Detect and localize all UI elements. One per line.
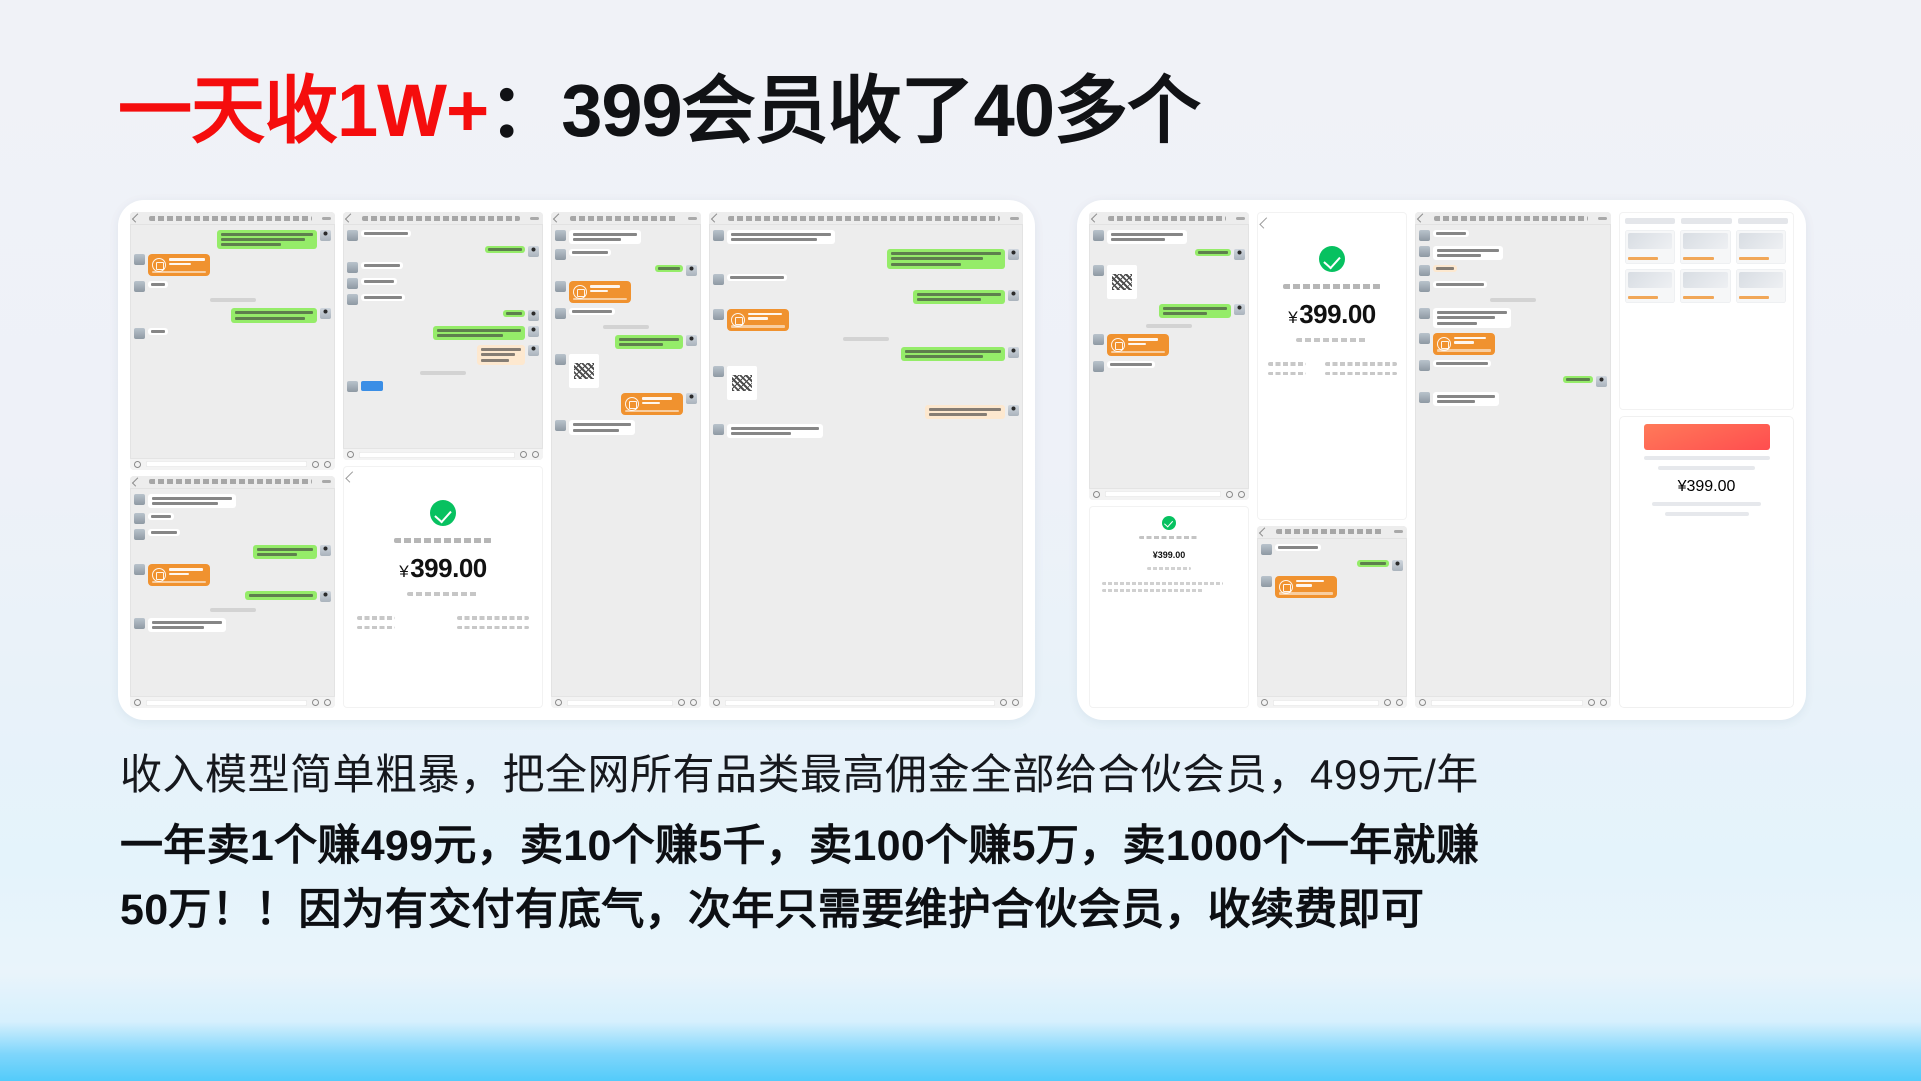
chat-bubble-incoming [1433, 230, 1469, 237]
chat-title-redacted [149, 216, 312, 221]
chat-timestamp [843, 337, 889, 341]
chat-body [343, 225, 543, 397]
chat-row [1261, 544, 1403, 555]
chat-bubble-outgoing [503, 310, 525, 317]
wechat-transfer-card [1107, 334, 1169, 356]
chat-timestamp [210, 608, 256, 612]
avatar [134, 513, 145, 524]
chat-bubble-incoming [148, 529, 180, 536]
chat-body [709, 225, 1023, 443]
chat-bubble-incoming [361, 230, 411, 237]
success-check-icon [1319, 246, 1345, 272]
avatar [1261, 544, 1272, 555]
chat-navbar [551, 212, 701, 225]
emoji-icon[interactable] [1588, 699, 1595, 706]
emoji-icon[interactable] [1000, 699, 1007, 706]
chat-body [1415, 225, 1611, 411]
payment-subtitle-redacted [407, 592, 479, 596]
plus-icon[interactable] [1012, 699, 1019, 706]
chat-bubble-outgoing [245, 591, 317, 600]
chat-bubble-incoming [727, 274, 787, 281]
emoji-icon[interactable] [312, 461, 319, 468]
avatar [1008, 290, 1019, 301]
product-cell[interactable] [1680, 269, 1730, 303]
payment-caption-redacted [1283, 284, 1381, 289]
amount-value: 399.00 [1158, 550, 1186, 560]
chat-navbar [709, 212, 1023, 225]
avatar [1093, 230, 1104, 241]
avatar [320, 308, 331, 319]
chat-row [134, 254, 331, 276]
chat-timestamp [210, 298, 256, 302]
avatar [1419, 265, 1430, 276]
more-icon [1010, 217, 1019, 220]
chat-input-bar[interactable] [130, 458, 335, 470]
emoji-icon[interactable] [520, 451, 527, 458]
chat-bubble-incoming [1433, 281, 1487, 288]
chat-row [555, 281, 697, 303]
chat-row [1093, 249, 1245, 260]
payment-caption-redacted [1139, 536, 1199, 540]
back-icon[interactable] [1259, 217, 1270, 228]
collage-right: ¥399.00 ¥399.00 [1089, 212, 1794, 708]
payment-success-screenshot: ¥399.00 [343, 466, 543, 708]
product-cell[interactable] [1625, 269, 1675, 303]
chat-row [1419, 376, 1607, 387]
success-check-icon [430, 500, 456, 526]
chat-bubble-incoming [1433, 360, 1491, 367]
chat-timestamp [1490, 298, 1536, 302]
chat-bubble-outgoing [913, 290, 1005, 304]
more-icon [1394, 530, 1403, 533]
voice-icon[interactable] [1261, 699, 1268, 706]
wechat-chat-screenshot [130, 476, 335, 708]
chat-bubble-incoming [569, 230, 641, 244]
chat-row [713, 366, 1019, 400]
avatar [320, 545, 331, 556]
avatar [1419, 246, 1430, 257]
payment-amount-small: ¥399.00 [1153, 546, 1186, 561]
chat-body [130, 225, 335, 344]
product-grid-screenshot [1619, 212, 1794, 410]
wechat-chat-screenshot [1089, 212, 1249, 500]
chat-row [555, 230, 697, 244]
chat-body [130, 489, 335, 638]
chat-input-bar[interactable] [551, 696, 701, 708]
chat-row [347, 310, 539, 321]
chat-link-bubble [361, 381, 383, 391]
more-icon [1236, 217, 1245, 220]
chat-row [347, 246, 539, 257]
avatar [1234, 249, 1245, 260]
wechat-chat-screenshot [1257, 526, 1407, 708]
product-cell[interactable] [1736, 230, 1786, 264]
chat-body [551, 225, 701, 440]
chat-bubble-incoming [148, 281, 168, 288]
chat-bubble-incoming [148, 494, 236, 508]
avatar [134, 529, 145, 540]
chat-bubble-outgoing [485, 246, 525, 253]
avatar [1008, 249, 1019, 260]
product-cell[interactable] [1680, 230, 1730, 264]
mock-line [1665, 512, 1749, 516]
meta-row [357, 626, 529, 630]
chat-row [1419, 333, 1607, 355]
chat-bubble-incoming [569, 420, 635, 434]
chat-image-bubble [569, 354, 599, 388]
message-input[interactable] [1431, 700, 1583, 706]
avatar [347, 278, 358, 289]
avatar [1008, 347, 1019, 358]
chat-bubble-outgoing [1563, 376, 1593, 383]
chat-row [555, 308, 697, 319]
chat-bubble-incoming [1275, 544, 1321, 551]
avatar [555, 230, 566, 241]
chat-row [1261, 560, 1403, 571]
chat-bubble-incoming [1107, 230, 1187, 244]
emoji-icon[interactable] [312, 699, 319, 706]
avatar [1419, 333, 1430, 344]
chat-title-redacted [149, 479, 312, 484]
chat-row [1261, 576, 1403, 598]
avatar [1419, 308, 1430, 319]
message-input[interactable] [567, 700, 673, 706]
collage-left: ¥399.00 [130, 212, 1023, 708]
chat-timestamp [420, 371, 466, 375]
avatar [320, 591, 331, 602]
chat-row [134, 494, 331, 508]
chat-bubble-incoming [1433, 265, 1457, 272]
chat-bubble-incoming [569, 308, 615, 315]
chat-input-bar[interactable] [130, 696, 335, 708]
avatar [320, 230, 331, 241]
avatar [555, 354, 566, 365]
right-screenshot-collage: ¥399.00 ¥399.00 [1077, 200, 1806, 720]
chat-row [555, 335, 697, 349]
avatar [555, 249, 566, 260]
chat-bubble-outgoing [253, 545, 317, 559]
avatar [528, 310, 539, 321]
wechat-chat-screenshot [551, 212, 701, 708]
chat-row [1419, 392, 1607, 406]
chat-row [1419, 360, 1607, 371]
image-thumbnail [574, 363, 594, 379]
wechat-chat-screenshot [1415, 212, 1611, 708]
chat-bubble-incoming [1107, 361, 1155, 368]
chat-row [555, 393, 697, 415]
chat-row [134, 308, 331, 322]
avatar [713, 424, 724, 435]
avatar [134, 564, 145, 575]
avatar [134, 281, 145, 292]
chat-row [347, 345, 539, 364]
grid-body [1625, 230, 1788, 303]
chat-bubble-outgoing [925, 405, 1005, 419]
chat-bubble-outgoing [655, 265, 683, 272]
back-icon[interactable] [345, 471, 356, 482]
chat-row [134, 281, 331, 292]
chat-row [134, 529, 331, 540]
meta-row [1268, 362, 1397, 366]
plus-icon[interactable] [324, 699, 331, 706]
avatar [347, 262, 358, 273]
chat-row [347, 326, 539, 340]
plus-icon[interactable] [1600, 699, 1607, 706]
image-thumbnail [1112, 274, 1132, 290]
avatar [1392, 560, 1403, 571]
chat-row [1093, 334, 1245, 356]
chat-bubble-outgoing [1159, 304, 1231, 318]
avatar [555, 420, 566, 431]
chat-row [1093, 230, 1245, 244]
grid-tabs[interactable] [1625, 218, 1788, 224]
wechat-transfer-card [148, 254, 210, 276]
chat-bubble-outgoing [615, 335, 683, 349]
voice-icon[interactable] [134, 461, 141, 468]
title-highlight: 一天收1W+ [118, 74, 488, 148]
avatar [347, 381, 358, 392]
chat-row [713, 405, 1019, 419]
tab[interactable] [1738, 218, 1788, 224]
voice-icon[interactable] [347, 451, 354, 458]
chat-row [1093, 265, 1245, 299]
mock-line [1658, 466, 1754, 470]
plus-icon[interactable] [690, 699, 697, 706]
chat-bubble-incoming [148, 328, 168, 335]
screenshot-cards: ¥399.00 [118, 200, 1806, 720]
success-check-icon [1162, 516, 1176, 530]
chat-input-bar[interactable] [1089, 488, 1249, 500]
chat-row [713, 424, 1019, 438]
amount-value: 399.00 [1299, 299, 1376, 329]
wechat-chat-screenshot [130, 212, 335, 470]
avatar [686, 335, 697, 346]
chat-bubble-incoming [148, 513, 174, 520]
copy-line-2: 一年卖1个赚499元，卖10个赚5千，卖100个赚5万，卖1000个一年就赚 5… [120, 814, 1820, 943]
chat-row [134, 564, 331, 586]
chat-image-bubble [727, 366, 757, 400]
more-icon [1598, 217, 1607, 220]
chat-bubble-outgoing [231, 308, 317, 322]
tab[interactable] [1681, 218, 1731, 224]
chat-bubble-incoming [1433, 308, 1511, 327]
plus-icon[interactable] [1238, 491, 1245, 498]
payment-success-screenshot: ¥399.00 [1257, 212, 1407, 520]
chat-navbar [1089, 212, 1249, 225]
avatar [555, 281, 566, 292]
chat-bubble-outgoing [901, 347, 1005, 361]
message-input[interactable] [1105, 491, 1221, 497]
avatar [1093, 265, 1104, 276]
chat-bubble-incoming [569, 249, 611, 256]
avatar [686, 393, 697, 404]
chat-row [555, 249, 697, 260]
chat-image-bubble [1107, 265, 1137, 299]
payment-subtitle-redacted [1296, 338, 1368, 342]
voice-icon[interactable] [134, 699, 141, 706]
emoji-icon[interactable] [1226, 491, 1233, 498]
chat-row [1419, 281, 1607, 292]
avatar [1234, 304, 1245, 315]
avatar [713, 309, 724, 320]
message-input[interactable] [146, 461, 307, 467]
copy-line-2a: 一年卖1个赚499元，卖10个赚5千，卖100个赚5万，卖1000个一年就赚 [120, 814, 1820, 879]
chat-bubble-incoming [727, 424, 823, 438]
body-copy: 收入模型简单粗暴，把全网所有品类最高佣金全部给合伙会员，499元/年 一年卖1个… [120, 745, 1820, 943]
chat-bubble-outgoing [1195, 249, 1231, 256]
chat-row [1093, 361, 1245, 372]
plus-icon[interactable] [1396, 699, 1403, 706]
voice-icon[interactable] [1093, 491, 1100, 498]
payment-caption-redacted [394, 538, 492, 543]
avatar [1596, 376, 1607, 387]
more-icon [530, 217, 539, 220]
avatar [134, 328, 145, 339]
payment-success-small: ¥399.00 [1089, 506, 1249, 708]
mock-line [1652, 502, 1761, 506]
payment-subtitle-redacted [1147, 567, 1191, 570]
chat-row [347, 278, 539, 289]
avatar [555, 308, 566, 319]
plus-icon[interactable] [324, 461, 331, 468]
amount-value: 399.00 [1686, 478, 1735, 495]
message-input[interactable] [359, 452, 515, 458]
plus-icon[interactable] [532, 451, 539, 458]
mock-line [1644, 456, 1770, 460]
chat-row [1419, 265, 1607, 276]
chat-input-bar[interactable] [709, 696, 1023, 708]
chat-row [134, 591, 331, 602]
phone-mock-screenshot: ¥399.00 [1619, 416, 1794, 708]
more-icon [322, 480, 331, 483]
chat-row [713, 249, 1019, 268]
chat-image-bubble [477, 345, 525, 364]
message-input[interactable] [725, 700, 995, 706]
chat-input-bar[interactable] [1415, 696, 1611, 708]
chat-timestamp [603, 325, 649, 329]
avatar [1261, 576, 1272, 587]
chat-row [347, 230, 539, 241]
chat-row [134, 513, 331, 524]
avatar [1008, 405, 1019, 416]
avatar [1419, 360, 1430, 371]
chat-row [555, 265, 697, 276]
avatar [528, 246, 539, 257]
avatar [713, 366, 724, 377]
chat-bubble-incoming [1433, 246, 1503, 260]
chat-navbar [343, 212, 543, 225]
chat-input-bar[interactable] [1257, 696, 1407, 708]
more-icon [688, 217, 697, 220]
voice-icon[interactable] [1419, 699, 1426, 706]
currency-symbol: ¥ [1288, 308, 1297, 327]
avatar [1093, 334, 1104, 345]
chat-row [134, 618, 331, 632]
emoji-icon[interactable] [1384, 699, 1391, 706]
promo-banner [1644, 424, 1770, 450]
title-rest: ：399会员收了40多个 [488, 74, 1200, 148]
copy-line-1: 收入模型简单粗暴，把全网所有品类最高佣金全部给合伙会员，499元/年 [120, 745, 1820, 806]
chat-row [347, 294, 539, 305]
avatar [347, 230, 358, 241]
voice-icon[interactable] [555, 699, 562, 706]
wechat-transfer-card [621, 393, 683, 415]
wechat-transfer-card [1433, 333, 1495, 355]
tab[interactable] [1625, 218, 1675, 224]
chat-row [555, 420, 697, 434]
left-screenshot-collage: ¥399.00 [118, 200, 1035, 720]
chat-body [1257, 539, 1407, 603]
chat-bubble-incoming [1433, 392, 1499, 406]
chat-row [134, 328, 331, 339]
amount-value: 399.00 [410, 553, 487, 583]
chat-body [1089, 225, 1249, 377]
chat-row [713, 309, 1019, 331]
chat-input-bar[interactable] [343, 448, 543, 460]
avatar [134, 254, 145, 265]
chat-row [713, 230, 1019, 244]
payment-meta [1102, 582, 1236, 592]
chat-row [713, 290, 1019, 304]
avatar [1419, 230, 1430, 241]
emoji-icon[interactable] [678, 699, 685, 706]
wechat-transfer-card [727, 309, 789, 331]
chat-bubble-outgoing [887, 249, 1005, 268]
avatar [713, 274, 724, 285]
wechat-chat-screenshot [709, 212, 1023, 708]
page-title: 一天收1W+：399会员收了40多个 [118, 68, 1818, 154]
chat-row [134, 230, 331, 249]
chat-bubble-incoming [148, 618, 226, 632]
chat-row [713, 274, 1019, 285]
product-cell[interactable] [1736, 269, 1786, 303]
message-input[interactable] [146, 700, 307, 706]
voice-icon[interactable] [713, 699, 720, 706]
chat-row [1419, 230, 1607, 241]
wechat-chat-screenshot [343, 212, 543, 460]
avatar [1093, 361, 1104, 372]
wechat-transfer-card [1275, 576, 1337, 598]
chat-title-redacted [1434, 216, 1588, 221]
chat-navbar [1257, 526, 1407, 539]
product-cell[interactable] [1625, 230, 1675, 264]
message-input[interactable] [1273, 700, 1379, 706]
chat-row [555, 354, 697, 388]
chat-bubble-incoming [361, 262, 403, 269]
chat-row [713, 347, 1019, 361]
payment-amount: ¥399.00 [1288, 301, 1376, 327]
avatar [528, 326, 539, 337]
avatar [528, 345, 539, 356]
chat-title-redacted [1108, 216, 1226, 221]
chat-row [347, 381, 539, 392]
avatar [347, 294, 358, 305]
chat-row [1093, 304, 1245, 318]
avatar [686, 265, 697, 276]
more-icon [322, 217, 331, 220]
currency-symbol: ¥ [399, 562, 408, 581]
payment-amount-small: ¥399.00 [1678, 478, 1736, 496]
slide-canvas: 一天收1W+：399会员收了40多个 [0, 0, 1921, 1081]
chat-timestamp [1146, 324, 1192, 328]
avatar [713, 230, 724, 241]
chat-bubble-outgoing [1357, 560, 1389, 567]
chat-navbar [1415, 212, 1611, 225]
chat-bubble-incoming [361, 294, 405, 301]
payment-amount: ¥399.00 [399, 555, 487, 581]
chat-navbar [130, 212, 335, 225]
meta-row [357, 616, 529, 620]
